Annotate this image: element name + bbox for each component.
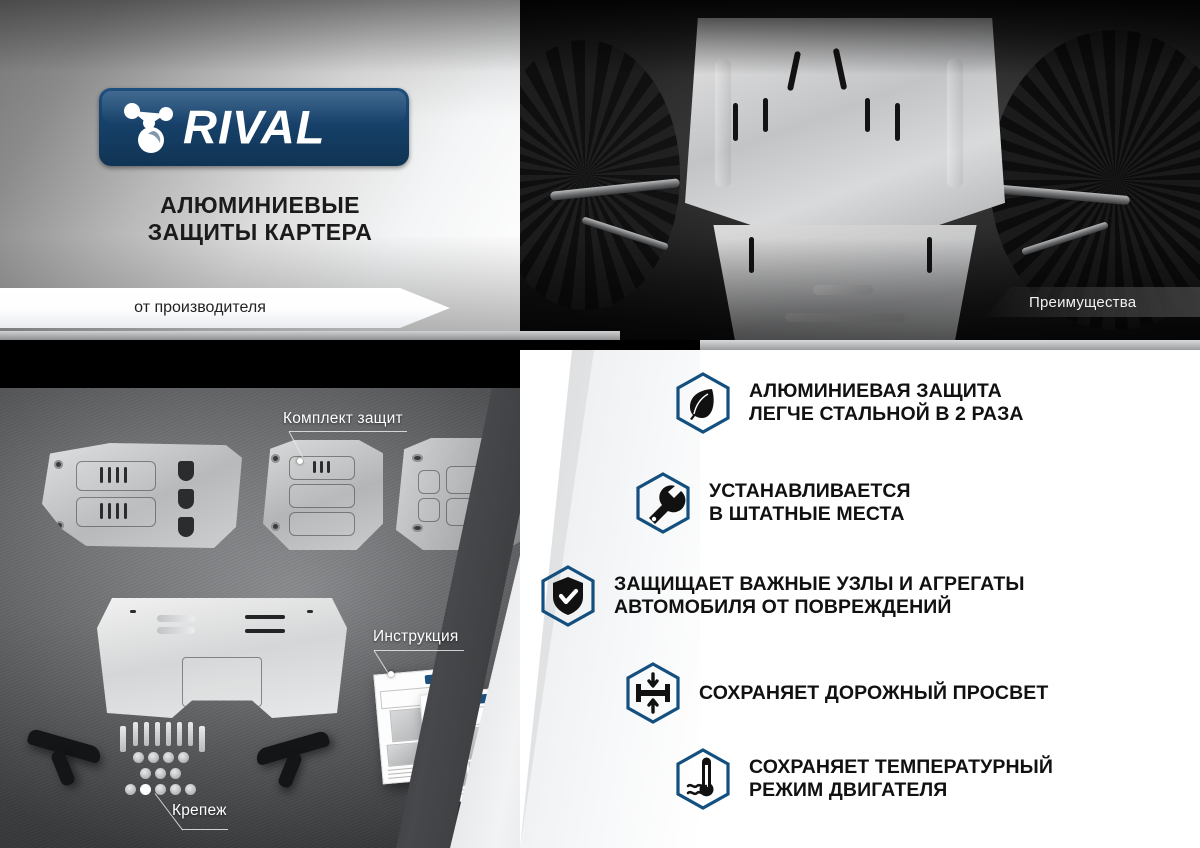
leader-line-kit: [289, 431, 407, 432]
advantage-item-0: АЛЮМИНИЕВАЯ ЗАЩИТА ЛЕГЧЕ СТАЛЬНОЙ В 2 РА…: [675, 372, 1024, 434]
leaf-icon: [675, 372, 731, 434]
subtitle-band: от производителя: [0, 288, 450, 328]
advantage-text-2: ЗАЩИЩАЕТ ВАЖНЫЕ УЗЛЫ И АГРЕГАТЫ АВТОМОБИ…: [614, 573, 1025, 619]
advantage-item-3: СОХРАНЯЕТ ДОРОЖНЫЙ ПРОСВЕТ: [625, 662, 1048, 724]
advantage-text-1: УСТАНАВЛИВАЕТСЯ В ШТАТНЫЕ МЕСТА: [709, 480, 911, 526]
promo-poster: RIVAL АЛЮМИНИЕВЫЕ ЗАЩИТЫ КАРТЕРА от прои…: [0, 0, 1200, 848]
wrench-icon: [635, 472, 691, 534]
advantages-panel: АЛЮМИНИЕВАЯ ЗАЩИТА ЛЕГЧЕ СТАЛЬНОЙ В 2 РА…: [520, 350, 1200, 848]
label-kit: Комплект защит: [283, 410, 403, 428]
ground-clearance-icon: [625, 662, 681, 724]
advantage-text-0: АЛЮМИНИЕВАЯ ЗАЩИТА ЛЕГЧЕ СТАЛЬНОЙ В 2 РА…: [749, 380, 1024, 426]
page-title: АЛЮМИНИЕВЫЕ ЗАЩИТЫ КАРТЕРА: [0, 192, 520, 246]
advantage-item-1: УСТАНАВЛИВАЕТСЯ В ШТАТНЫЕ МЕСТА: [635, 472, 911, 534]
label-hardware: Крепеж: [172, 802, 227, 820]
advantage-item-2: ЗАЩИЩАЕТ ВАЖНЫЕ УЗЛЫ И АГРЕГАТЫ АВТОМОБИ…: [540, 565, 1025, 627]
subtitle-text: от производителя: [0, 288, 400, 328]
label-instruction: Инструкция: [373, 628, 458, 646]
shield-check-icon: [540, 565, 596, 627]
skid-plate-main: [97, 593, 347, 718]
rival-logo: RIVAL: [99, 88, 409, 166]
leader-dot-instruction: [388, 671, 394, 677]
logo-wordmark: RIVAL: [183, 104, 326, 151]
thermometer-icon: [675, 748, 731, 810]
advantage-text-4: СОХРАНЯЕТ ТЕМПЕРАТУРНЫЙ РЕЖИМ ДВИГАТЕЛЯ: [749, 756, 1053, 802]
leader-dot-kit: [297, 458, 303, 464]
leader-line-hardware-b: [182, 829, 228, 830]
advantage-text-3: СОХРАНЯЕТ ДОРОЖНЫЙ ПРОСВЕТ: [699, 682, 1048, 705]
molecule-icon: [121, 101, 177, 153]
skid-plate-2: [263, 440, 383, 550]
skid-plate-1: [42, 443, 242, 548]
advantages-badge-label: Преимущества: [985, 294, 1136, 311]
advantages-badge: Преимущества: [985, 287, 1200, 317]
title-line-2: ЗАЩИТЫ КАРТЕРА: [0, 219, 520, 246]
leader-line-instruction: [374, 650, 464, 651]
advantage-item-4: СОХРАНЯЕТ ТЕМПЕРАТУРНЫЙ РЕЖИМ ДВИГАТЕЛЯ: [675, 748, 1053, 810]
title-line-1: АЛЮМИНИЕВЫЕ: [0, 192, 520, 219]
